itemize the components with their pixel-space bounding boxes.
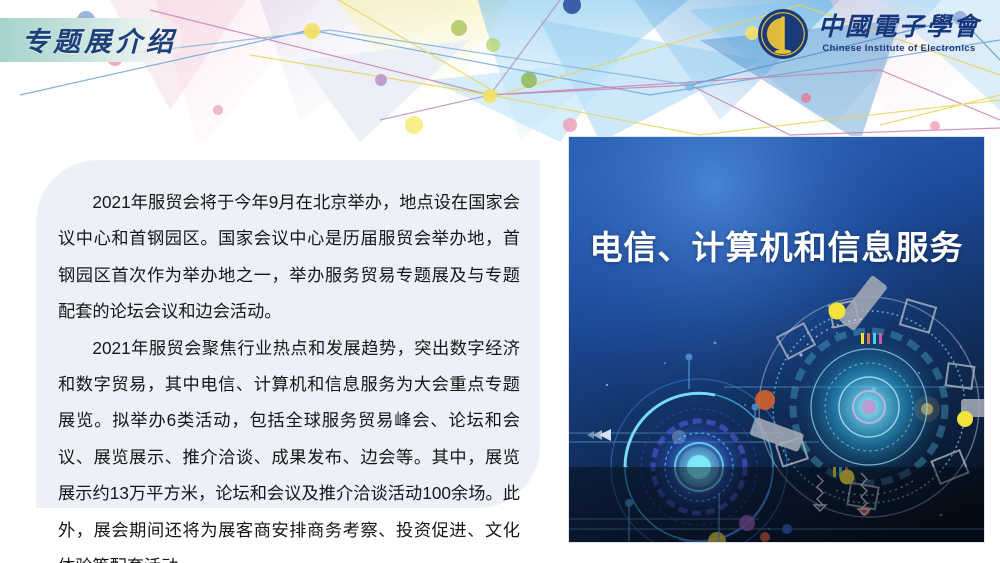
paragraph-2: 2021年服贸会聚焦行业热点和发展趋势，突出数字经济和数字贸易，其中电信、计算机… (58, 330, 520, 563)
feature-image-caption: 电信、计算机和信息服务 (569, 221, 984, 269)
page-title: 专题展介绍 (22, 20, 177, 59)
description-text: 2021年服贸会将于今年9月在北京举办，地点设在国家会议中心和首钢园区。国家会议… (58, 184, 520, 563)
feature-image: 电信、计算机和信息服务 (568, 136, 985, 543)
logo-chinese-name: 中國電子學會 (818, 15, 980, 40)
slide-canvas: 专题展介绍 中國電子學會 Chinese Institute of Electr… (0, 0, 1000, 563)
cie-emblem-icon (757, 8, 809, 60)
logo-text-block: 中國電子學會 Chinese Institute of Electronics (818, 15, 980, 54)
logo-english-name: Chinese Institute of Electronics (822, 44, 975, 54)
organization-logo: 中國電子學會 Chinese Institute of Electronics (751, 4, 986, 64)
paragraph-1: 2021年服贸会将于今年9月在北京举办，地点设在国家会议中心和首钢园区。国家会议… (58, 184, 520, 330)
